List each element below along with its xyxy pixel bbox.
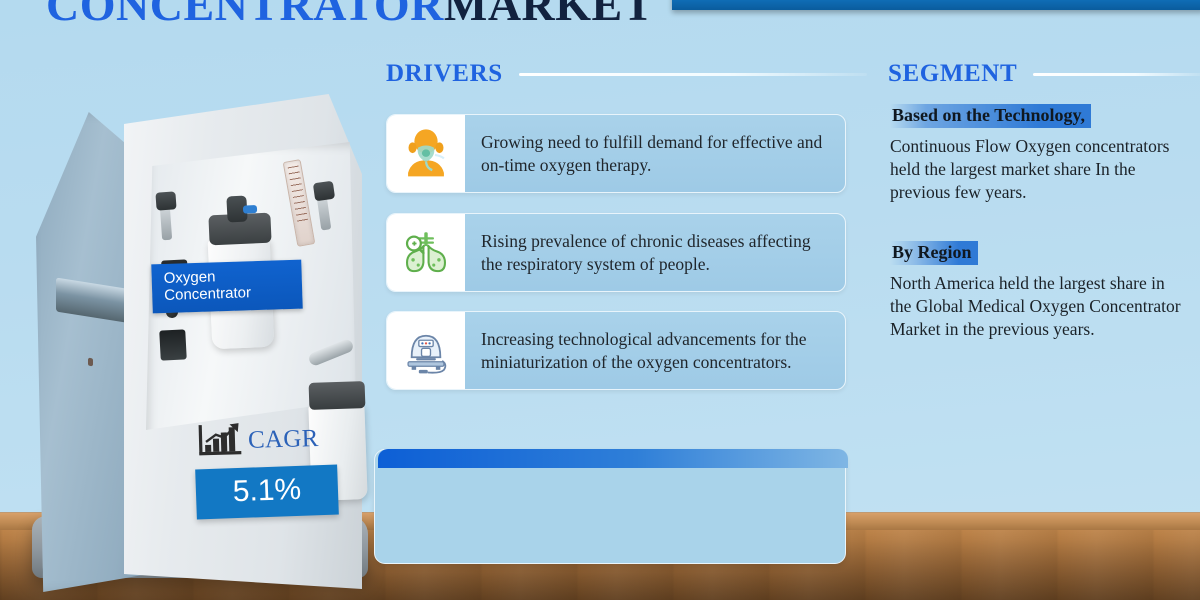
segment-block-title: By Region <box>890 241 978 265</box>
drivers-section-header: DRIVERS <box>386 60 867 88</box>
machine-side-screw <box>88 358 93 367</box>
page-title-dark: MARKET <box>444 0 654 30</box>
machine-port <box>159 329 187 360</box>
driver-card[interactable]: Increasing technological advancements fo… <box>386 311 846 390</box>
cagr-label: CAGR <box>248 425 319 455</box>
segment-heading-text: SEGMENT <box>888 60 1017 88</box>
patient-oxygen-mask-icon <box>387 115 465 192</box>
title-accent-bar <box>672 0 1200 10</box>
bar-chart-growth-icon <box>196 421 245 462</box>
segment-block: Based on the Technology, Continuous Flow… <box>890 104 1190 203</box>
segment-block: By Region North America held the largest… <box>890 241 1190 340</box>
lungs-magnifier-icon <box>387 214 465 291</box>
bottom-panel-header-bar <box>378 449 848 468</box>
page-title-blue: CONCENTRATOR <box>46 0 444 30</box>
segment-column: Based on the Technology, Continuous Flow… <box>890 104 1190 341</box>
machine-product-label: Oxygen Concentrator <box>151 260 302 313</box>
page-title: CONCENTRATORMARKET <box>46 0 654 31</box>
driver-card[interactable]: Rising prevalence of chronic diseases af… <box>386 213 846 292</box>
driver-card[interactable]: Growing need to fulfill demand for effec… <box>386 114 846 193</box>
segment-block-body: Continuous Flow Oxygen concentrators hel… <box>890 135 1190 203</box>
cagr-row: CAGR <box>196 418 367 462</box>
segment-heading-rule <box>1033 73 1200 76</box>
segment-section-header: SEGMENT <box>888 60 1200 88</box>
driver-card-text: Growing need to fulfill demand for effec… <box>465 131 845 176</box>
machine-label-line2: Concentrator <box>164 283 292 304</box>
machine-valve-knob-left <box>155 191 176 210</box>
drivers-heading-rule <box>519 73 867 76</box>
driver-card-text: Rising prevalence of chronic diseases af… <box>465 230 845 275</box>
drivers-heading-text: DRIVERS <box>386 60 503 88</box>
machine-valve-knob-right <box>313 181 335 202</box>
machine-humidifier-knob <box>226 195 247 222</box>
machine-secondary-cap <box>309 381 366 410</box>
cagr-value-badge: 5.1% <box>195 465 339 520</box>
segment-block-title: Based on the Technology, <box>890 104 1091 128</box>
driver-card-text: Increasing technological advancements fo… <box>465 328 845 373</box>
segment-block-body: North America held the largest share in … <box>890 272 1190 340</box>
oxygen-concentrator-device-icon <box>387 312 465 389</box>
cagr-badge-group: CAGR 5.1% <box>196 420 366 517</box>
